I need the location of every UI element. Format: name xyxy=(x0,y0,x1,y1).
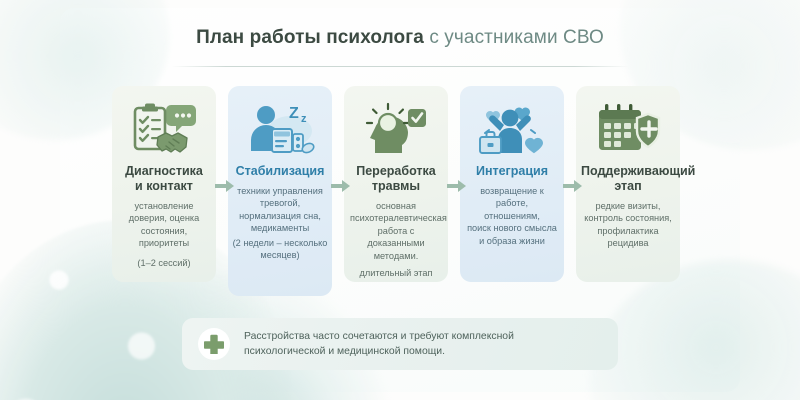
footer-banner: Расстройства часто сочетаются и требуют … xyxy=(182,318,618,370)
stage-title: Диагностика и контакт xyxy=(116,164,212,194)
head-lightbulb-check-icon xyxy=(348,98,444,160)
stage-title-line: Переработка xyxy=(356,164,436,178)
stage-desc-line: работа с доказанными xyxy=(367,226,424,248)
stage-title: Стабилизация xyxy=(232,164,328,179)
svg-text:z: z xyxy=(301,113,307,125)
stage-card-diagnostika[interactable]: Диагностика и контакт установление довер… xyxy=(112,86,216,282)
stage-desc-line: отношениям, xyxy=(484,211,540,221)
stage-title: Интеграция xyxy=(464,164,560,179)
page-header: План работы психолога с участниками СВО xyxy=(0,26,800,50)
stage-desc-line: основная xyxy=(376,201,416,211)
stage-desc-line: профилактика xyxy=(597,226,658,236)
person-arms-up-hearts-icon xyxy=(464,98,560,160)
stage-title-line: Интеграция xyxy=(476,164,548,178)
stage-title: Поддерживающий этап xyxy=(580,164,676,194)
stage-title-line: и контакт xyxy=(135,179,193,193)
footer-banner-line: Расстройства часто сочетаются и требуют … xyxy=(244,329,514,344)
stage-desc-line: тревогой, xyxy=(260,198,300,208)
stage-desc-line: нормализация сна, xyxy=(239,211,321,221)
clipboard-handshake-icon xyxy=(116,98,212,160)
stage-description: редкие визиты, контроль состояния, профи… xyxy=(580,200,676,250)
stage-desc-line: рецидива xyxy=(608,238,649,248)
stage-description: установление доверия, оценка состояния, … xyxy=(116,200,212,250)
arrow-right-icon xyxy=(331,179,351,193)
stage-card-stabilizaciya[interactable]: Z z С xyxy=(228,86,332,296)
footer-banner-text: Расстройства часто сочетаются и требуют … xyxy=(244,329,514,359)
stage-desc-line: установление xyxy=(135,201,194,211)
stage-cards: Диагностика и контакт установление довер… xyxy=(112,86,688,296)
stage-desc-line: медикаменты xyxy=(251,223,309,233)
page-title-strong: План работы психолога xyxy=(196,27,424,48)
arrow-right-icon xyxy=(563,179,583,193)
arrow-right-icon xyxy=(215,179,235,193)
page-title: План работы психолога с участниками СВО xyxy=(0,26,800,50)
stage-desc-line: поиск нового смысла xyxy=(467,223,557,233)
stage-desc-line: техники управления xyxy=(237,186,323,196)
stage-desc-line: редкие визиты, xyxy=(596,201,661,211)
stage-title-line: Поддерживающий xyxy=(581,164,695,178)
stage-title-line: этап xyxy=(614,179,641,193)
arrow-right-icon xyxy=(447,179,467,193)
stage-title-line: травмы xyxy=(372,179,420,193)
stage-card-podderzhivayushchiy-etap[interactable]: Поддерживающий этап редкие визиты, контр… xyxy=(576,86,680,282)
medical-cross-icon xyxy=(198,328,230,360)
stage-card-integraciya[interactable]: Интеграция возвращение к работе, отношен… xyxy=(460,86,564,282)
title-divider xyxy=(171,66,629,67)
svg-text:Z: Z xyxy=(289,105,299,122)
stage-description: техники управления тревогой, нормализаци… xyxy=(232,185,328,235)
stage-desc-line: контроль состояния, xyxy=(584,213,672,223)
stage-desc-line: состояния, приоритеты xyxy=(139,226,189,248)
stage-description: возвращение к работе, отношениям, поиск … xyxy=(464,185,560,247)
stage-note: (1–2 сессий) xyxy=(116,257,212,269)
stage-card-pererabotka-travmy[interactable]: Переработка травмы основная психотералев… xyxy=(344,86,448,282)
stage-desc-line: возвращение к работе, xyxy=(480,186,544,208)
stage-description: основная психотералевтическая работа с д… xyxy=(348,200,444,262)
calendar-shield-icon xyxy=(580,98,676,160)
stage-note: (2 недели – несколько месяцев) xyxy=(232,237,328,262)
infographic-canvas: План работы психолога с участниками СВО xyxy=(0,0,800,400)
stage-title: Переработка травмы xyxy=(348,164,444,194)
stage-note: длительный этап xyxy=(348,267,444,279)
person-sleep-medication-icon: Z z xyxy=(232,98,328,160)
page-title-light: с участниками СВО xyxy=(424,27,604,48)
stage-desc-line: и образа жизни xyxy=(479,236,545,246)
stage-title-line: Диагностика xyxy=(125,164,203,178)
stage-desc-line: доверия, оценка xyxy=(129,213,199,223)
stage-desc-line: психотералевтическая xyxy=(350,213,447,223)
stage-desc-line: методами. xyxy=(374,251,419,261)
footer-banner-line: психологической и медицинской помощи. xyxy=(244,344,514,359)
stage-title-line: Стабилизация xyxy=(236,164,325,178)
